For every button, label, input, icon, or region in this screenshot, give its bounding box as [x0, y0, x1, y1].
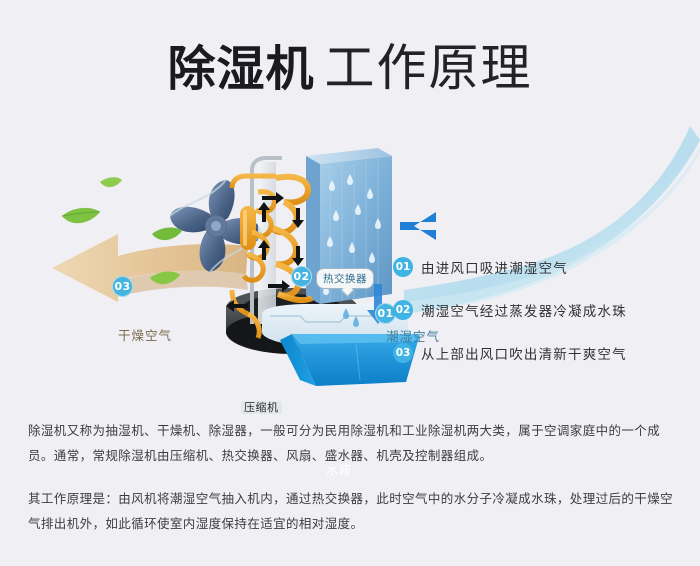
intake-arrow — [400, 212, 436, 240]
page-title: 除湿机工作原理 — [0, 28, 700, 100]
legend-badge-02: 02 — [393, 300, 413, 320]
legend-item-01: 01 由进风口吸进潮湿空气 — [393, 256, 693, 278]
legend-item-02: 02 潮湿空气经过蒸发器冷凝成水珠 — [393, 299, 693, 321]
legend-item-03: 03 从上部出风口吹出清新干爽空气 — [393, 342, 693, 364]
legend-badge-01: 01 — [393, 257, 413, 277]
badge-heat-exchanger: 02 — [291, 266, 312, 287]
paragraph-2: 其工作原理是：由风机将潮湿空气抽入机内，通过热交换器，此时空气中的水分子冷凝成水… — [28, 486, 676, 536]
accumulator — [240, 206, 256, 250]
infographic-page: 除湿机工作原理 — [0, 0, 700, 566]
heat-exchanger-callout: 热交换器 — [316, 268, 374, 289]
dry-air-label: 干燥空气 — [118, 330, 172, 343]
paragraph-1: 除湿机又称为抽湿机、干燥机、除湿器，一般可分为民用除湿机和工业除湿机两大类，属于… — [28, 418, 676, 468]
legend-text-01: 由进风口吸进潮湿空气 — [421, 257, 568, 277]
page-title-strong: 除湿机 — [167, 41, 314, 97]
body-copy: 除湿机又称为抽湿机、干燥机、除湿器，一般可分为民用除湿机和工业除湿机两大类，属于… — [28, 418, 676, 536]
legend-list: 01 由进风口吸进潮湿空气 02 潮湿空气经过蒸发器冷凝成水珠 03 从上部出风… — [393, 256, 693, 385]
legend-text-03: 从上部出风口吹出清新干爽空气 — [421, 343, 627, 363]
badge-dry-air: 03 — [112, 276, 133, 297]
legend-text-02: 潮湿空气经过蒸发器冷凝成水珠 — [421, 300, 627, 320]
legend-badge-03: 03 — [393, 343, 413, 363]
page-title-light: 工作原理 — [325, 39, 533, 97]
compressor-label: 压缩机 — [241, 401, 282, 414]
